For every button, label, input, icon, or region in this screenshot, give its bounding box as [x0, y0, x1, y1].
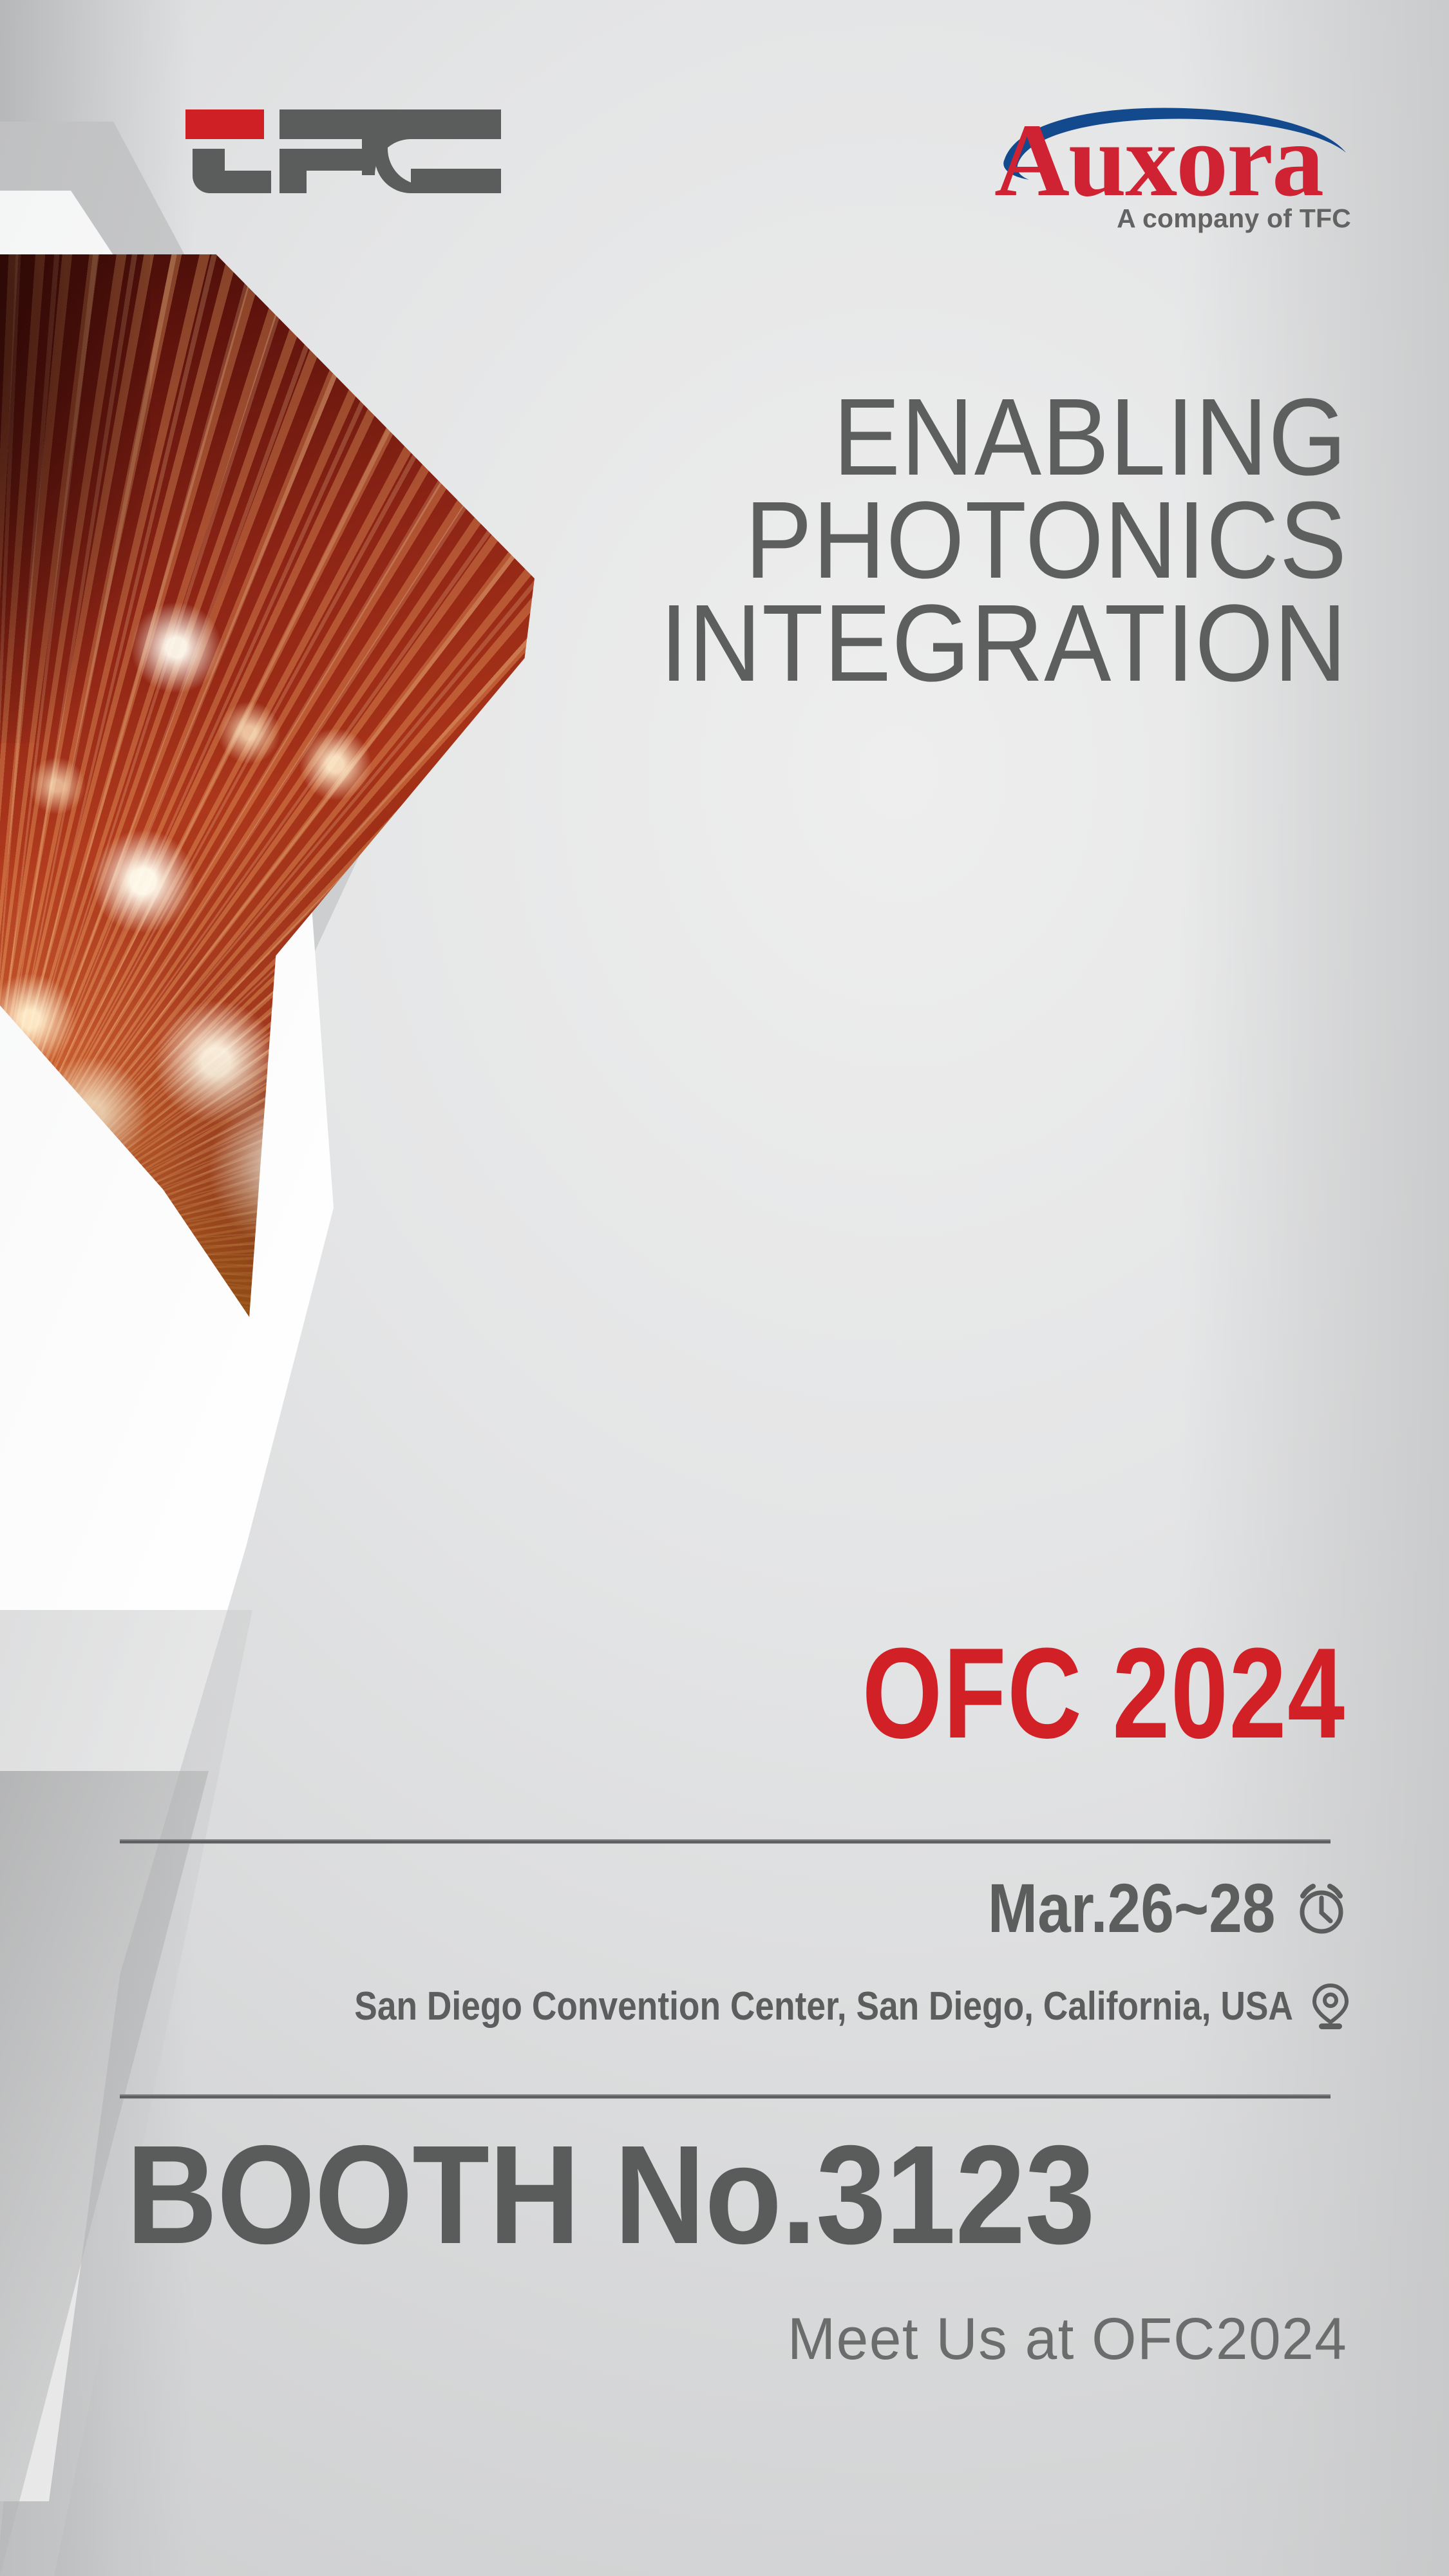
headline-line-2: PHOTONICS — [423, 489, 1347, 592]
tfc-c-spine — [375, 145, 388, 154]
tfc-t-stem — [193, 149, 271, 193]
tfc-f-top-bar — [279, 109, 362, 139]
tfc-logomark — [185, 109, 501, 193]
alarm-clock-icon — [1292, 1879, 1351, 1938]
event-date-row: Mar.26~28 — [941, 1868, 1351, 1948]
headline-line-3: INTEGRATION — [423, 592, 1347, 696]
poster-canvas: Auxora A company of TFC ENABLING PHOTONI… — [0, 0, 1449, 2576]
event-date-text: Mar.26~28 — [987, 1868, 1275, 1948]
booth-number: BOOTH No.3123 — [126, 2125, 1095, 2266]
event-title: OFC 2024 — [862, 1629, 1346, 1758]
auxora-text: Auxora — [994, 103, 1323, 213]
event-venue-row: San Diego Convention Center, San Diego, … — [202, 1982, 1351, 2030]
auxora-wordmark: Auxora — [993, 100, 1354, 213]
tfc-f-mid-bar — [279, 149, 362, 171]
divider-bottom — [120, 2094, 1331, 2099]
booth-tagline: Meet Us at OFC2024 — [788, 2306, 1347, 2373]
divider-top — [120, 1839, 1331, 1844]
tfc-logo — [185, 109, 501, 193]
fiber-dark-vignette — [0, 254, 150, 743]
auxora-logo: Auxora A company of TFC — [993, 100, 1354, 261]
auxora-wordmark-group: Auxora — [993, 100, 1354, 213]
event-venue-text: San Diego Convention Center, San Diego, … — [354, 1984, 1293, 2029]
tfc-red-bar — [185, 109, 264, 139]
headline-line-1: ENABLING — [423, 386, 1347, 489]
page-headline: ENABLING PHOTONICS INTEGRATION — [423, 386, 1347, 695]
map-pin-icon — [1310, 1982, 1351, 2030]
tfc-c-bottom-bar — [411, 169, 501, 193]
